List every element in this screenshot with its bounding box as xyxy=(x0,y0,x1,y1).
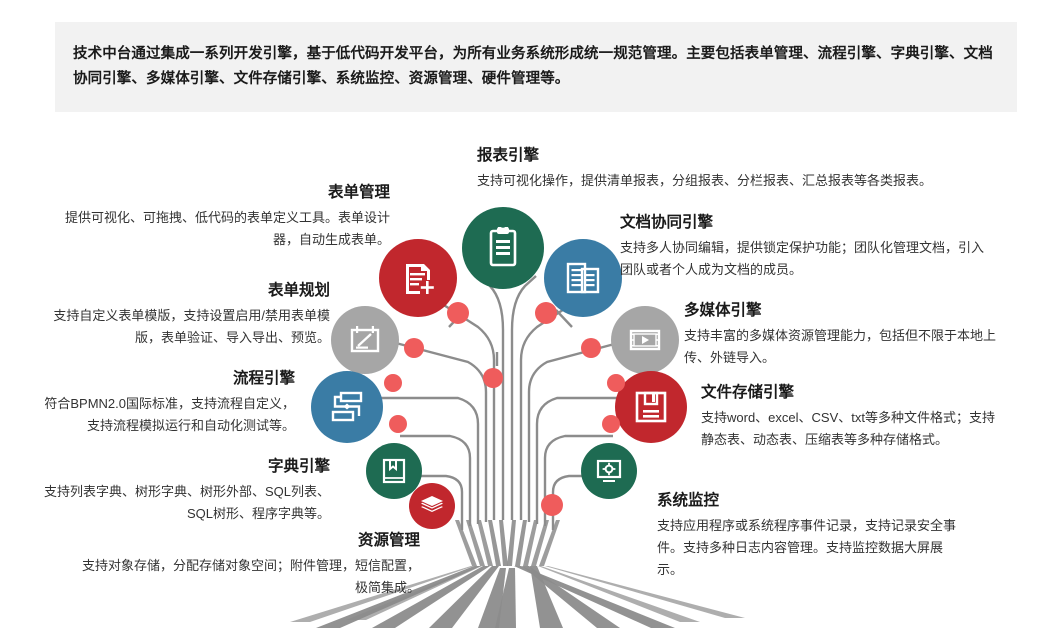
accent-dot-2 xyxy=(535,302,557,324)
node-form-planning[interactable] xyxy=(331,306,399,374)
feature-process-engine: 流程引擎 符合BPMN2.0国际标准，支持流程自定义，支持流程模拟运行和自动化测… xyxy=(40,368,295,437)
feature-title: 报表引擎 xyxy=(477,145,1017,166)
edit-note-icon xyxy=(347,322,383,358)
accent-dot-5 xyxy=(483,368,503,388)
feature-title: 系统监控 xyxy=(657,490,957,511)
feature-file-storage-engine: 文件存储引擎 支持word、excel、CSV、txt等多种文件格式；支持静态表… xyxy=(701,382,1001,451)
node-report-engine[interactable] xyxy=(462,207,544,289)
clipboard-icon xyxy=(482,227,524,269)
document-add-icon xyxy=(398,258,438,298)
book-icon xyxy=(379,456,409,486)
summary-banner: 技术中台通过集成一系列开发引擎，基于低代码开发平台，为所有业务系统形成统一规范管… xyxy=(55,22,1017,112)
feature-dictionary-engine: 字典引擎 支持列表字典、树形字典、树形外部、SQL列表、SQL树形、程序字典等。 xyxy=(40,456,330,525)
feature-title: 资源管理 xyxy=(70,530,420,551)
accent-dot-1 xyxy=(447,302,469,324)
feature-report-engine: 报表引擎 支持可视化操作，提供清单报表，分组报表、分栏报表、汇总报表等各类报表。 xyxy=(477,145,1017,192)
accent-dot-3 xyxy=(404,338,424,358)
stack-layers-icon xyxy=(419,493,445,519)
feature-resource-management: 资源管理 支持对象存储，分配存储对象空间；附件管理，短信配置，极简集成。 xyxy=(70,530,420,599)
monitor-gear-icon xyxy=(594,456,624,486)
feature-form-management: 表单管理 提供可视化、可拖拽、低代码的表单定义工具。表单设计器，自动生成表单。 xyxy=(60,182,390,251)
feature-desc: 支持应用程序或系统程序事件记录，支持记录安全事件。支持多种日志内容管理。支持监控… xyxy=(657,515,957,581)
floppy-save-icon xyxy=(632,388,670,426)
feature-title: 表单管理 xyxy=(60,182,390,203)
feature-title: 多媒体引擎 xyxy=(684,300,1004,321)
feature-desc: 符合BPMN2.0国际标准，支持流程自定义，支持流程模拟运行和自动化测试等。 xyxy=(40,393,295,437)
feature-title: 字典引擎 xyxy=(40,456,330,477)
accent-dot-10 xyxy=(541,494,563,516)
accent-dot-8 xyxy=(389,415,407,433)
node-system-monitoring[interactable] xyxy=(581,443,637,499)
accent-dot-4 xyxy=(581,338,601,358)
feature-title: 文档协同引擎 xyxy=(620,212,995,233)
feature-desc: 支持自定义表单模版，支持设置启用/禁用表单模版，表单验证、导入导出、预览。 xyxy=(40,305,330,349)
feature-system-monitoring: 系统监控 支持应用程序或系统程序事件记录，支持记录安全事件。支持多种日志内容管理… xyxy=(657,490,957,581)
feature-desc: 支持对象存储，分配存储对象空间；附件管理，短信配置，极简集成。 xyxy=(70,555,420,599)
summary-banner-text: 技术中台通过集成一系列开发引擎，基于低代码开发平台，为所有业务系统形成统一规范管… xyxy=(55,42,1017,92)
infographic-root: 技术中台通过集成一系列开发引擎，基于低代码开发平台，为所有业务系统形成统一规范管… xyxy=(0,0,1051,636)
accent-dot-7 xyxy=(607,374,625,392)
node-process-engine[interactable] xyxy=(311,371,383,443)
feature-title: 流程引擎 xyxy=(40,368,295,389)
feature-form-planning: 表单规划 支持自定义表单模版，支持设置启用/禁用表单模版，表单验证、导入导出、预… xyxy=(40,280,330,349)
accent-dot-9 xyxy=(602,415,620,433)
feature-desc: 支持多人协同编辑，提供锁定保护功能；团队化管理文档，引入团队或者个人成为文档的成… xyxy=(620,237,995,281)
branch-report-left xyxy=(480,276,503,520)
flowchart-icon xyxy=(328,388,366,426)
node-form-management[interactable] xyxy=(379,239,457,317)
documents-icon xyxy=(563,258,603,298)
accent-dot-6 xyxy=(384,374,402,392)
node-resource-management[interactable] xyxy=(409,483,455,529)
node-multimedia-engine[interactable] xyxy=(611,306,679,374)
node-file-storage-engine[interactable] xyxy=(615,371,687,443)
feature-multimedia-engine: 多媒体引擎 支持丰富的多媒体资源管理能力，包括但不限于本地上传、外链导入。 xyxy=(684,300,1004,369)
node-document-collab-engine[interactable] xyxy=(544,239,622,317)
feature-title: 表单规划 xyxy=(40,280,330,301)
feature-desc: 提供可视化、可拖拽、低代码的表单定义工具。表单设计器，自动生成表单。 xyxy=(60,207,390,251)
feature-document-collab-engine: 文档协同引擎 支持多人协同编辑，提供锁定保护功能；团队化管理文档，引入团队或者个… xyxy=(620,212,995,281)
feature-desc: 支持可视化操作，提供清单报表，分组报表、分栏报表、汇总报表等各类报表。 xyxy=(477,170,1017,192)
feature-desc: 支持word、excel、CSV、txt等多种文件格式；支持静态表、动态表、压缩… xyxy=(701,407,1001,451)
feature-desc: 支持丰富的多媒体资源管理能力，包括但不限于本地上传、外链导入。 xyxy=(684,325,1004,369)
feature-title: 文件存储引擎 xyxy=(701,382,1001,403)
feature-desc: 支持列表字典、树形字典、树形外部、SQL列表、SQL树形、程序字典等。 xyxy=(40,481,330,525)
video-play-icon xyxy=(627,322,663,358)
